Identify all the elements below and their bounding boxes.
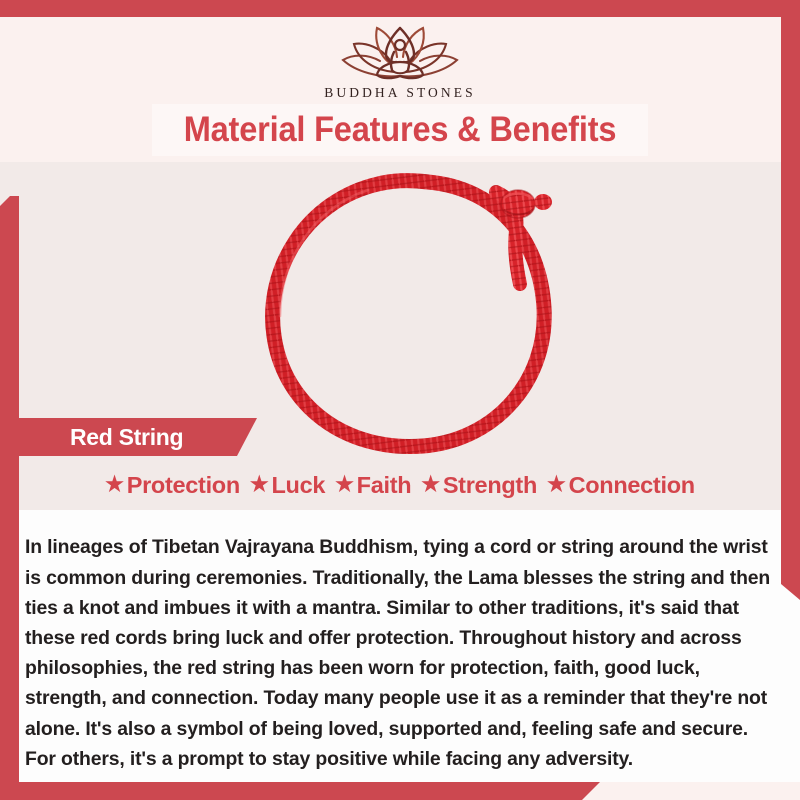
benefit-label: Luck — [271, 472, 325, 499]
product-image — [218, 168, 598, 464]
benefit-item: ★ Strength — [418, 472, 540, 499]
product-name-label: Red String — [70, 418, 183, 456]
star-icon: ★ — [335, 474, 354, 495]
benefit-label: Protection — [127, 472, 240, 499]
page-title: Material Features & Benefits — [169, 104, 630, 156]
lotus-meditation-icon — [336, 20, 464, 82]
brand-logo: BUDDHA STONES — [0, 20, 800, 101]
benefit-label: Connection — [569, 472, 695, 499]
benefit-item: ★ Protection — [102, 472, 243, 499]
benefit-item: ★ Faith — [332, 472, 414, 499]
description-text: In lineages of Tibetan Vajrayana Buddhis… — [25, 532, 777, 774]
bottom-red-ribbon — [0, 782, 600, 800]
star-icon: ★ — [250, 474, 269, 495]
star-icon: ★ — [547, 474, 566, 495]
benefit-label: Strength — [443, 472, 537, 499]
left-red-ribbon — [0, 196, 19, 800]
benefit-item: ★ Luck — [247, 472, 328, 499]
infographic-page: BUDDHA STONES Material Features & Benefi… — [0, 0, 800, 800]
benefit-item: ★ Connection — [544, 472, 698, 499]
benefits-row: ★ Protection ★ Luck ★ Faith ★ Strength ★… — [24, 466, 776, 504]
benefit-label: Faith — [357, 472, 412, 499]
brand-name: BUDDHA STONES — [324, 85, 475, 101]
star-icon: ★ — [105, 474, 124, 495]
top-red-band — [0, 0, 800, 17]
star-icon: ★ — [421, 474, 440, 495]
